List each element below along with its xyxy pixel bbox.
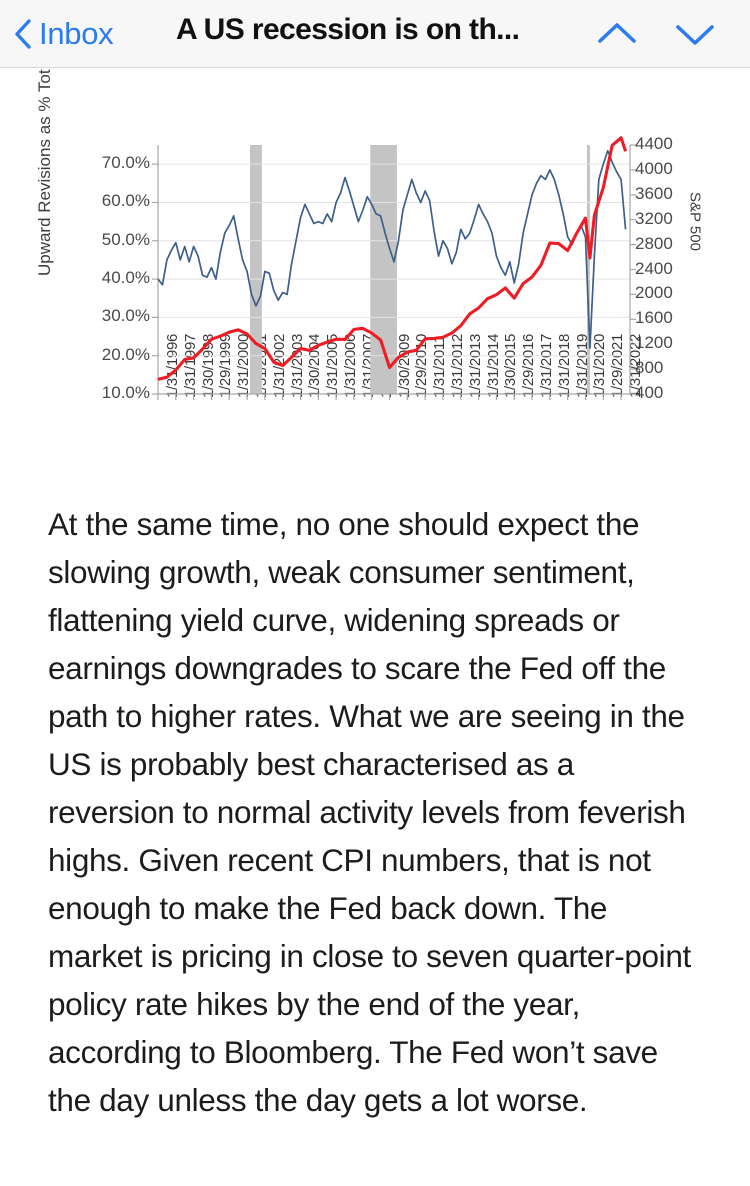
chart-container: Upward Revisions as % Tota S&P 500 10.0%… (0, 69, 750, 484)
next-message-button[interactable] (666, 14, 724, 54)
chart-figure: Upward Revisions as % Tota S&P 500 10.0%… (0, 69, 750, 484)
article-body: At the same time, no one should expect t… (0, 500, 750, 1124)
chevron-up-icon (588, 14, 646, 54)
article-paragraph: At the same time, no one should expect t… (0, 500, 750, 1124)
nav-bar: Inbox A US recession is on th... (0, 0, 750, 68)
page-title: A US recession is on th... (176, 13, 566, 47)
chevron-down-icon (666, 14, 724, 54)
back-button-label: Inbox (39, 16, 113, 52)
chevron-left-icon (14, 19, 31, 49)
back-to-inbox-button[interactable]: Inbox (14, 10, 113, 58)
plot-area (0, 69, 750, 484)
previous-message-button[interactable] (588, 14, 646, 54)
